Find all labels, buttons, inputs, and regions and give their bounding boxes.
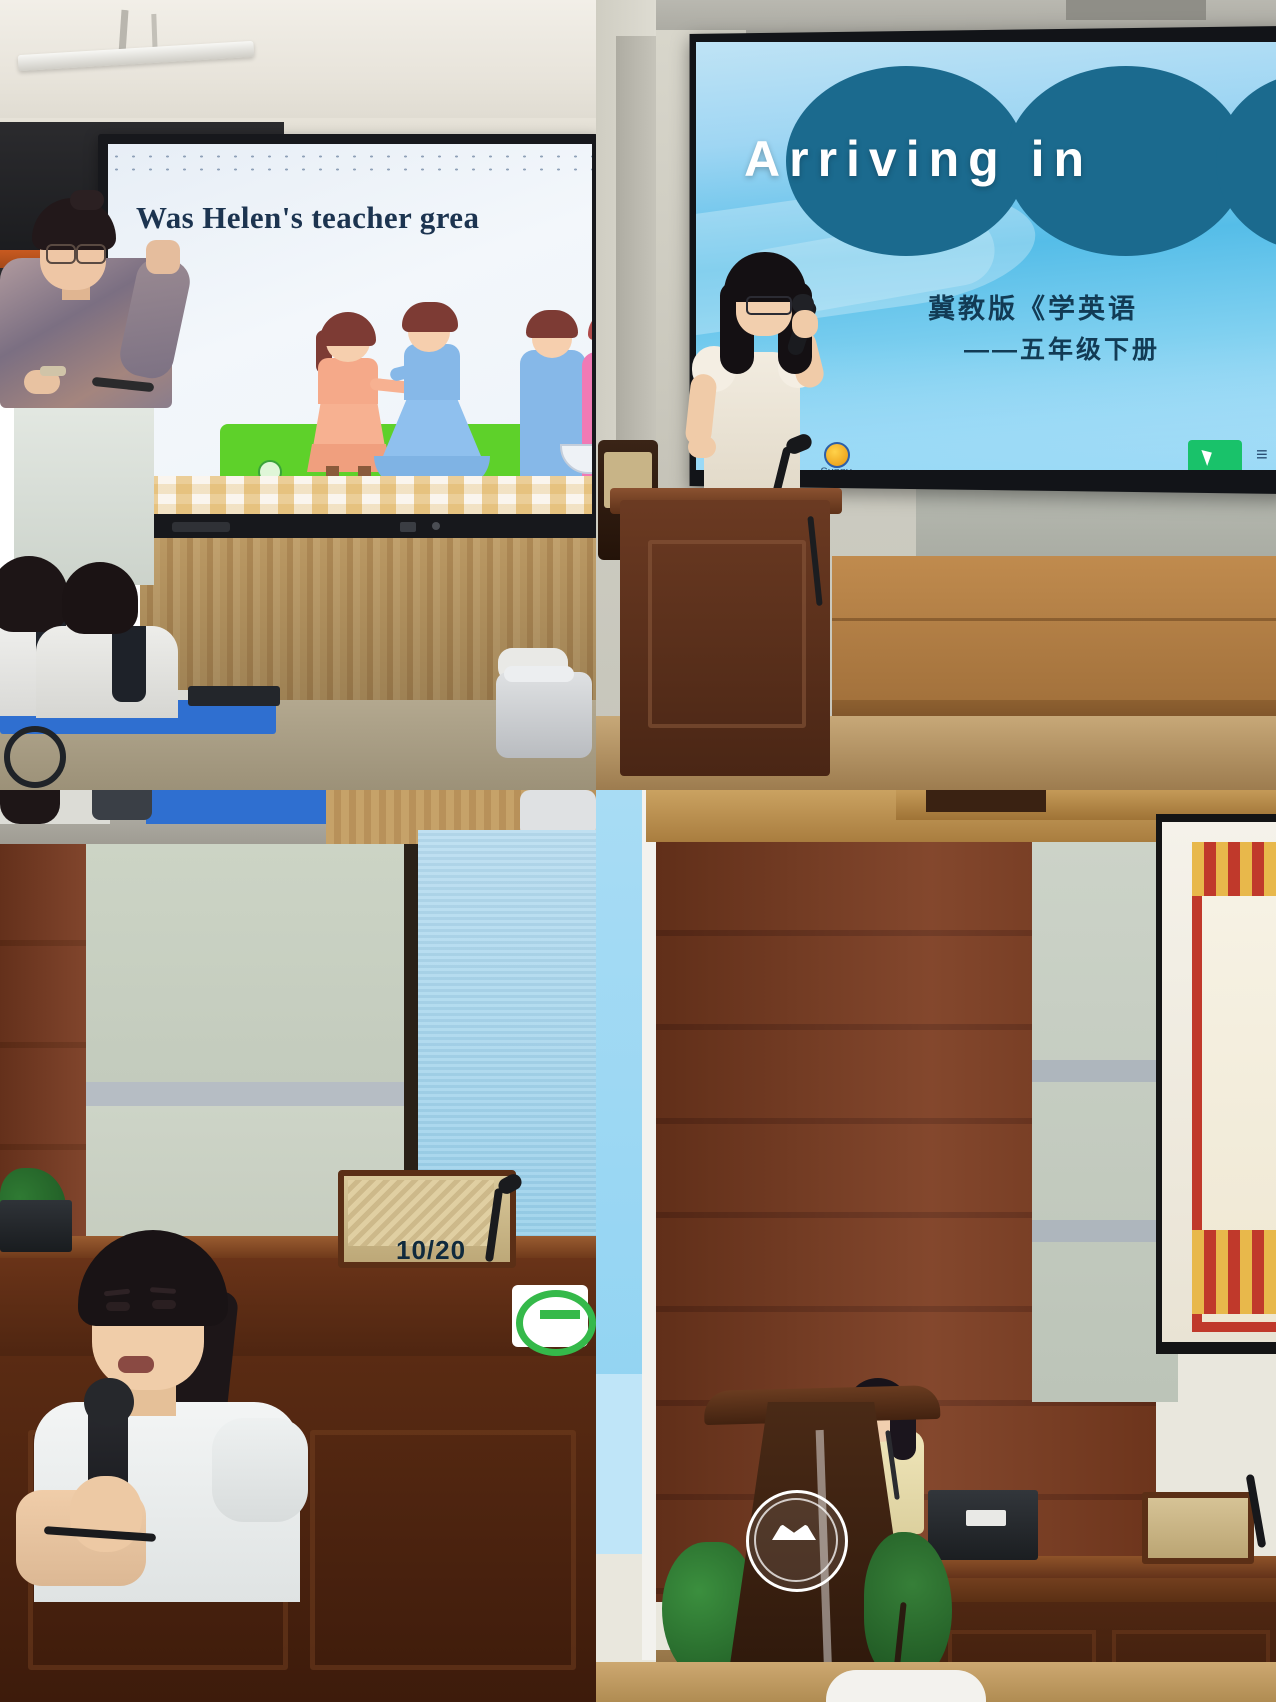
wall-panel bbox=[86, 844, 416, 1082]
cartoon-lady-hair bbox=[402, 302, 458, 332]
classroom-photo: Was Helen's teacher grea bbox=[0, 0, 596, 790]
cartoon-girl-hair bbox=[320, 312, 376, 346]
teacher-hair-band bbox=[70, 190, 104, 210]
slide-subtitle-line1: 冀教版《学英语 bbox=[928, 287, 1138, 326]
school-bag bbox=[496, 672, 592, 758]
teacher-fist bbox=[146, 240, 180, 274]
speaker-eye bbox=[152, 1300, 176, 1309]
bl-slide-text: 10/20 bbox=[396, 1235, 466, 1266]
cartoon-girl-body bbox=[318, 358, 378, 404]
ceiling-fixture bbox=[926, 790, 1046, 812]
wall-panel-band bbox=[86, 1082, 416, 1106]
lectern-presentation-photo: 冀 河北科技师范学院 bbox=[596, 790, 1276, 1702]
upper-strip-chair bbox=[92, 790, 152, 820]
speaker-hand bbox=[70, 1476, 142, 1552]
auditorium-presentation-photo: Arriving in 冀教版《学英语 ——五年级下册 化 Sunny 选择 ≡ bbox=[596, 0, 1276, 790]
toolbar-icon-right[interactable]: ≡ bbox=[1256, 444, 1268, 467]
student-desk-dark bbox=[188, 686, 280, 706]
name-plate bbox=[1142, 1492, 1254, 1564]
photo-gutter bbox=[642, 790, 656, 1660]
e-badge-bar bbox=[540, 1310, 580, 1319]
smartboard-indicator-icon bbox=[432, 522, 440, 530]
speaker-eye bbox=[106, 1302, 130, 1311]
presenter-hand bbox=[688, 436, 716, 458]
collage-panel-bottom-right: 冀 河北科技师范学院 bbox=[596, 790, 1276, 1702]
student-torso bbox=[36, 626, 178, 718]
glasses-icon bbox=[746, 296, 792, 315]
certificate-bottom-border bbox=[1192, 1230, 1276, 1314]
sunny-icon[interactable] bbox=[824, 442, 850, 468]
certificate-top-border bbox=[1192, 842, 1276, 896]
cartoon-blue-hair bbox=[526, 310, 578, 338]
slide-plaid-band bbox=[108, 476, 592, 514]
adjacent-photo-edge bbox=[596, 1374, 642, 1554]
laptop[interactable] bbox=[0, 1200, 72, 1252]
slide-title: Was Helen's teacher grea bbox=[136, 200, 592, 236]
upper-strip-student-head bbox=[0, 790, 60, 824]
e-badge-icon bbox=[516, 1290, 596, 1356]
foreground-head bbox=[826, 1670, 986, 1702]
student-collar bbox=[112, 626, 146, 702]
glasses-icon bbox=[76, 244, 106, 264]
upper-strip-desk bbox=[146, 790, 326, 824]
ceiling-vent bbox=[1066, 0, 1206, 20]
collage-panel-top-right: Arriving in 冀教版《学英语 ——五年级下册 化 Sunny 选择 ≡ bbox=[596, 0, 1276, 790]
slide-title: Arriving in bbox=[744, 130, 1093, 188]
lectern-panel bbox=[648, 540, 806, 728]
panel-commentator-photo bbox=[0, 790, 596, 1702]
speaker-mouth bbox=[118, 1356, 154, 1373]
speaker-sleeve bbox=[212, 1418, 308, 1522]
smartboard-controls[interactable] bbox=[172, 522, 230, 532]
collage-panel-top-left: Was Helen's teacher grea bbox=[0, 0, 596, 790]
laptop-label bbox=[966, 1510, 1006, 1526]
collage-panel-bottom-left bbox=[0, 790, 596, 1702]
smartboard-button[interactable] bbox=[400, 522, 416, 532]
stage-edge-line bbox=[832, 618, 1276, 621]
stage-floor bbox=[832, 556, 1276, 716]
headphone-icon bbox=[4, 726, 66, 788]
sunny-label: Sunny bbox=[806, 466, 866, 470]
student-head bbox=[62, 562, 138, 634]
university-emblem-ring bbox=[754, 1498, 838, 1582]
slide-ellipse bbox=[1216, 72, 1276, 252]
bag-strap bbox=[504, 666, 574, 682]
glasses-icon bbox=[46, 244, 76, 264]
microphone-head-icon bbox=[84, 1378, 134, 1426]
table-front-panel bbox=[310, 1430, 576, 1670]
photo-collage: Was Helen's teacher grea bbox=[0, 0, 1276, 1702]
slide-dot-band bbox=[108, 150, 592, 178]
wristwatch-icon bbox=[40, 366, 66, 376]
slide-subtitle-line2: ——五年级下册 bbox=[964, 330, 1160, 366]
presenter-hand bbox=[792, 310, 818, 338]
smartboard-screen: Was Helen's teacher grea bbox=[108, 144, 592, 514]
cartoon-pink-hair bbox=[588, 310, 592, 340]
select-button[interactable] bbox=[1188, 440, 1242, 470]
